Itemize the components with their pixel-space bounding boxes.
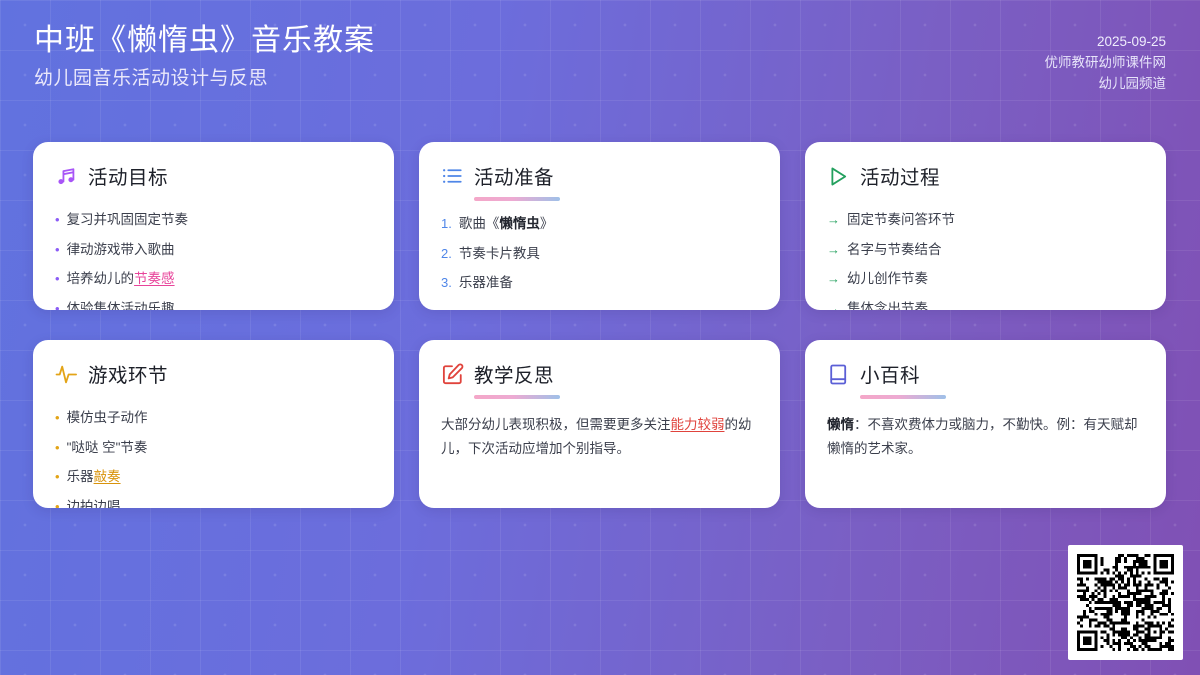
card-body: →固定节奏问答环节→名字与节奏结合→幼儿创作节奏→集体念出节奏 bbox=[827, 211, 1144, 310]
list-item: 2.节奏卡片教具 bbox=[441, 245, 758, 263]
music-note-icon bbox=[55, 165, 78, 188]
list-marker: 3. bbox=[441, 274, 452, 292]
card-title-underline bbox=[474, 197, 560, 201]
list-marker: • bbox=[55, 498, 60, 508]
list-item-text: 固定节奏问答环节 bbox=[847, 211, 955, 229]
list-item-text: 乐器敲奏 bbox=[67, 468, 121, 486]
list-marker: → bbox=[827, 300, 840, 310]
card-title: 教学反思 bbox=[474, 359, 554, 390]
card-body: 懒惰：不喜欢费体力或脑力，不勤快。例：有天赋却懒惰的艺术家。 bbox=[827, 413, 1144, 460]
play-triangle-icon bbox=[827, 165, 850, 188]
card-paragraph: 懒惰：不喜欢费体力或脑力，不勤快。例：有天赋却懒惰的艺术家。 bbox=[827, 413, 1144, 460]
list-item: →幼儿创作节奏 bbox=[827, 270, 1144, 288]
card-body: •模仿虫子动作•"哒哒 空"节奏•乐器敲奏•边拍边唱 bbox=[55, 409, 372, 508]
item-pre: 律动游戏带入歌曲 bbox=[67, 242, 175, 257]
list-marker: • bbox=[55, 439, 60, 457]
list-marker: 2. bbox=[441, 245, 452, 263]
item-pre: 边拍边唱 bbox=[67, 499, 121, 508]
paragraph-term: 懒惰 bbox=[827, 417, 854, 432]
item-post: 》 bbox=[540, 216, 554, 231]
list-item-text: 幼儿创作节奏 bbox=[847, 270, 928, 288]
item-pre: 节奏卡片教具 bbox=[459, 246, 540, 261]
list-item-text: 集体念出节奏 bbox=[847, 300, 928, 310]
item-pre: 名字与节奏结合 bbox=[847, 242, 942, 257]
card-mini-encyclopedia: 小百科懒惰：不喜欢费体力或脑力，不勤快。例：有天赋却懒惰的艺术家。 bbox=[805, 340, 1166, 508]
card-paragraph: 大部分幼儿表现积极，但需要更多关注能力较弱的幼儿，下次活动应增加个别指导。 bbox=[441, 413, 758, 460]
item-pre: "哒哒 空"节奏 bbox=[67, 440, 148, 455]
card-activity-prep: 活动准备1.歌曲《懒惰虫》2.节奏卡片教具3.乐器准备 bbox=[419, 142, 780, 310]
list-marker: • bbox=[55, 211, 60, 229]
list-marker: • bbox=[55, 270, 60, 288]
edit-square-icon bbox=[441, 363, 464, 386]
list-item: •复习并巩固固定节奏 bbox=[55, 211, 372, 229]
card-game-segment: 游戏环节•模仿虫子动作•"哒哒 空"节奏•乐器敲奏•边拍边唱 bbox=[33, 340, 394, 508]
list-item: •模仿虫子动作 bbox=[55, 409, 372, 427]
meta-channel: 幼儿园频道 bbox=[1045, 74, 1167, 95]
card-body: 1.歌曲《懒惰虫》2.节奏卡片教具3.乐器准备 bbox=[441, 215, 758, 292]
item-pre: 乐器 bbox=[67, 469, 94, 484]
qr-code-image bbox=[1077, 554, 1174, 651]
book-icon bbox=[827, 363, 850, 386]
item-pre: 复习并巩固固定节奏 bbox=[67, 212, 189, 227]
page-title: 中班《懒惰虫》音乐教案 bbox=[34, 26, 375, 56]
title-block: 中班《懒惰虫》音乐教案 幼儿园音乐活动设计与反思 bbox=[34, 26, 375, 88]
pulse-wave-icon bbox=[55, 363, 78, 386]
card-header: 活动准备 bbox=[441, 161, 758, 192]
card-title: 小百科 bbox=[860, 359, 920, 390]
list-marker: → bbox=[827, 211, 840, 229]
list-item-text: 模仿虫子动作 bbox=[67, 409, 148, 427]
qr-code-block[interactable] bbox=[1068, 545, 1183, 660]
list-marker: 1. bbox=[441, 215, 452, 233]
item-bold: 懒惰虫 bbox=[499, 216, 540, 231]
item-pre: 固定节奏问答环节 bbox=[847, 212, 955, 227]
card-header: 活动目标 bbox=[55, 161, 372, 192]
card-title: 游戏环节 bbox=[88, 359, 168, 390]
list-item: 1.歌曲《懒惰虫》 bbox=[441, 215, 758, 233]
list-item: •乐器敲奏 bbox=[55, 468, 372, 486]
meta-block: 2025-09-25 优师教研幼师课件网 幼儿园频道 bbox=[1045, 26, 1167, 95]
item-pre: 幼儿创作节奏 bbox=[847, 271, 928, 286]
item-pre: 集体念出节奏 bbox=[847, 301, 928, 310]
card-teaching-reflection: 教学反思大部分幼儿表现积极，但需要更多关注能力较弱的幼儿，下次活动应增加个别指导… bbox=[419, 340, 780, 508]
card-grid: 活动目标•复习并巩固固定节奏•律动游戏带入歌曲•培养幼儿的节奏感•体验集体活动乐… bbox=[33, 142, 1167, 508]
item-pre: 培养幼儿的 bbox=[67, 271, 135, 286]
item-highlight: 节奏感 bbox=[134, 271, 175, 286]
slide-root: 中班《懒惰虫》音乐教案 幼儿园音乐活动设计与反思 2025-09-25 优师教研… bbox=[0, 0, 1200, 675]
item-pre: 体验集体活动乐趣 bbox=[67, 301, 175, 310]
list-item: •"哒哒 空"节奏 bbox=[55, 439, 372, 457]
item-pre: 模仿虫子动作 bbox=[67, 410, 148, 425]
paragraph-pre: 大部分幼儿表现积极，但需要更多关注 bbox=[441, 417, 671, 432]
meta-date: 2025-09-25 bbox=[1045, 32, 1167, 53]
list-item: 3.乐器准备 bbox=[441, 274, 758, 292]
list-item: •律动游戏带入歌曲 bbox=[55, 241, 372, 259]
card-body: 大部分幼儿表现积极，但需要更多关注能力较弱的幼儿，下次活动应增加个别指导。 bbox=[441, 413, 758, 460]
slide-header: 中班《懒惰虫》音乐教案 幼儿园音乐活动设计与反思 2025-09-25 优师教研… bbox=[0, 0, 1200, 120]
card-title: 活动过程 bbox=[860, 161, 940, 192]
list-marker: • bbox=[55, 468, 60, 486]
meta-site: 优师教研幼师课件网 bbox=[1045, 53, 1167, 74]
list-item-text: 复习并巩固固定节奏 bbox=[67, 211, 189, 229]
list-marker: • bbox=[55, 409, 60, 427]
item-pre: 乐器准备 bbox=[459, 275, 513, 290]
list-item-text: 律动游戏带入歌曲 bbox=[67, 241, 175, 259]
list-item-text: 名字与节奏结合 bbox=[847, 241, 942, 259]
list-item-text: 边拍边唱 bbox=[67, 498, 121, 508]
card-header: 游戏环节 bbox=[55, 359, 372, 390]
list-item-text: 培养幼儿的节奏感 bbox=[67, 270, 175, 288]
list-item: →固定节奏问答环节 bbox=[827, 211, 1144, 229]
paragraph-highlight: 能力较弱 bbox=[671, 417, 725, 432]
list-icon bbox=[441, 165, 464, 188]
list-marker: → bbox=[827, 241, 840, 259]
list-item: •边拍边唱 bbox=[55, 498, 372, 508]
item-pre: 歌曲《 bbox=[459, 216, 500, 231]
card-header: 活动过程 bbox=[827, 161, 1144, 192]
card-header: 教学反思 bbox=[441, 359, 758, 390]
list-marker: • bbox=[55, 241, 60, 259]
list-item-text: 体验集体活动乐趣 bbox=[67, 300, 175, 310]
card-body: •复习并巩固固定节奏•律动游戏带入歌曲•培养幼儿的节奏感•体验集体活动乐趣 bbox=[55, 211, 372, 310]
card-activity-goals: 活动目标•复习并巩固固定节奏•律动游戏带入歌曲•培养幼儿的节奏感•体验集体活动乐… bbox=[33, 142, 394, 310]
list-item: →名字与节奏结合 bbox=[827, 241, 1144, 259]
card-title-underline bbox=[860, 395, 946, 399]
list-item-text: "哒哒 空"节奏 bbox=[67, 439, 148, 457]
page-subtitle: 幼儿园音乐活动设计与反思 bbox=[34, 69, 375, 88]
card-header: 小百科 bbox=[827, 359, 1144, 390]
card-title: 活动目标 bbox=[88, 161, 168, 192]
list-item-text: 歌曲《懒惰虫》 bbox=[459, 215, 554, 233]
list-marker: → bbox=[827, 270, 840, 288]
card-title: 活动准备 bbox=[474, 161, 554, 192]
list-item: •培养幼儿的节奏感 bbox=[55, 270, 372, 288]
card-activity-process: 活动过程→固定节奏问答环节→名字与节奏结合→幼儿创作节奏→集体念出节奏 bbox=[805, 142, 1166, 310]
list-item-text: 节奏卡片教具 bbox=[459, 245, 540, 263]
list-item-text: 乐器准备 bbox=[459, 274, 513, 292]
list-marker: • bbox=[55, 300, 60, 310]
list-item: →集体念出节奏 bbox=[827, 300, 1144, 310]
list-item: •体验集体活动乐趣 bbox=[55, 300, 372, 310]
paragraph-post: ：不喜欢费体力或脑力，不勤快。例：有天赋却懒惰的艺术家。 bbox=[827, 417, 1138, 456]
item-highlight: 敲奏 bbox=[94, 469, 121, 484]
card-title-underline bbox=[474, 395, 560, 399]
